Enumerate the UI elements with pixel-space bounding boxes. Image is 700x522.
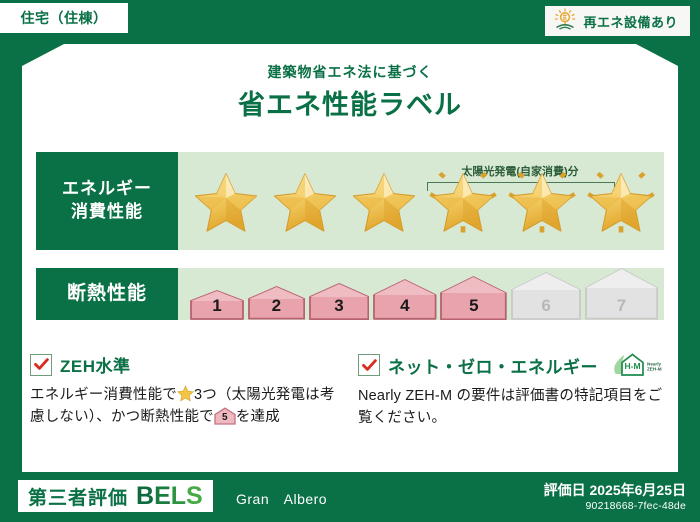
energy-performance-label: 住宅（住棟） 再エネ設備あり: [0, 0, 700, 522]
insulation-label: 断熱性能: [67, 281, 147, 307]
insulation-level-1: 1: [188, 290, 246, 320]
insulation-level-2: 2: [246, 286, 307, 320]
star-6: [581, 162, 660, 240]
insulation-level-number: 4: [371, 296, 438, 316]
bels-letter: E: [154, 482, 171, 511]
insulation-level-number: 3: [307, 296, 371, 316]
third-party-evaluation-label: 第三者評価: [28, 483, 128, 510]
insulation-level-3: 3: [307, 283, 371, 320]
svg-text:H-M: H-M: [624, 361, 640, 371]
bels-certification-plate: 第三者評価 BELS: [18, 480, 213, 512]
solar-power-icon: [553, 8, 577, 35]
criteria-title-zeh: ZEH水準: [60, 352, 131, 377]
star-3: [344, 162, 423, 240]
insulation-level-4: 4: [371, 279, 438, 320]
nearly-zeh-m-logo: H-M Nearly ZEH-M: [612, 352, 664, 378]
insulation-level-6: 6: [509, 272, 583, 320]
energy-label-line1: エネルギー: [62, 178, 152, 201]
insulation-level-number: 5: [439, 296, 510, 316]
insulation-performance-body: 1234567: [178, 268, 664, 320]
checkbox-checked-icon: [358, 354, 380, 376]
star-4: [423, 162, 502, 240]
star-icon: [177, 385, 194, 402]
footer-bar: 第三者評価 BELS Gran Albero 評価日 2025年6月25日 90…: [0, 472, 700, 522]
criteria-zeh-standard: ZEH水準 エネルギー消費性能で3つ（太陽光発電は考慮しない）、かつ断熱性能で5…: [30, 352, 348, 429]
evaluation-id: 90218668-7fec-48de: [585, 500, 686, 512]
document-type-tag: 住宅（住棟）: [0, 3, 128, 33]
criteria-heading: ZEH水準: [30, 352, 348, 377]
label-main-title: 省エネ性能ラベル: [0, 83, 700, 122]
energy-performance-label-box: エネルギー 消費性能: [36, 152, 178, 250]
label-subtitle: 建築物省エネ法に基づく: [0, 62, 700, 82]
house-level-badge-icon: 5: [214, 407, 236, 425]
star-5: [502, 162, 581, 240]
criteria-net-zero-energy: ネット・ゼロ・エネルギー H-M Nearly ZEH-M Nearly ZEH…: [358, 352, 670, 430]
evaluation-date: 評価日 2025年6月25日: [544, 480, 686, 500]
bels-letter: B: [136, 482, 154, 511]
building-name: Gran Albero: [236, 489, 327, 509]
insulation-level-7: 7: [583, 268, 660, 320]
criteria-heading: ネット・ゼロ・エネルギー H-M Nearly ZEH-M: [358, 352, 670, 378]
criteria-text-part1: エネルギー消費性能で: [30, 387, 177, 403]
criteria-title-net-zero: ネット・ゼロ・エネルギー: [388, 353, 598, 378]
svg-text:ZEH-M: ZEH-M: [647, 367, 662, 372]
energy-performance-body: 太陽光発電(自家消費)分: [178, 152, 664, 250]
star-2: [265, 162, 344, 240]
star-1: [186, 162, 265, 240]
bels-logo: BELS: [136, 482, 203, 511]
document-type-label: 住宅（住棟）: [21, 8, 108, 28]
insulation-level-scale: 1234567: [188, 268, 660, 320]
insulation-performance-row: 断熱性能 1234567: [36, 268, 664, 320]
insulation-level-number: 7: [583, 296, 660, 316]
checkbox-checked-icon: [30, 354, 52, 376]
insulation-level-number: 1: [188, 296, 246, 316]
energy-performance-row: エネルギー 消費性能 太陽光発電(自家消費)分: [36, 152, 664, 250]
bels-letter: S: [186, 482, 203, 511]
renewable-badge-label: 再エネ設備あり: [583, 12, 678, 31]
insulation-level-number: 6: [509, 296, 583, 316]
criteria-text-part3: を達成: [236, 409, 280, 425]
energy-label-line2: 消費性能: [71, 201, 143, 224]
house-level-number: 5: [214, 410, 236, 426]
renewable-equipment-badge: 再エネ設備あり: [545, 6, 690, 36]
insulation-level-number: 2: [246, 296, 307, 316]
star-rating: [186, 152, 660, 250]
criteria-description-zeh: エネルギー消費性能で3つ（太陽光発電は考慮しない）、かつ断熱性能で5を達成: [30, 384, 348, 429]
bels-letter: L: [171, 482, 186, 511]
insulation-level-5: 5: [439, 276, 510, 320]
insulation-performance-label-box: 断熱性能: [36, 268, 178, 320]
criteria-description-net-zero: Nearly ZEH-M の要件は評価書の特記項目をご覧ください。: [358, 385, 670, 430]
